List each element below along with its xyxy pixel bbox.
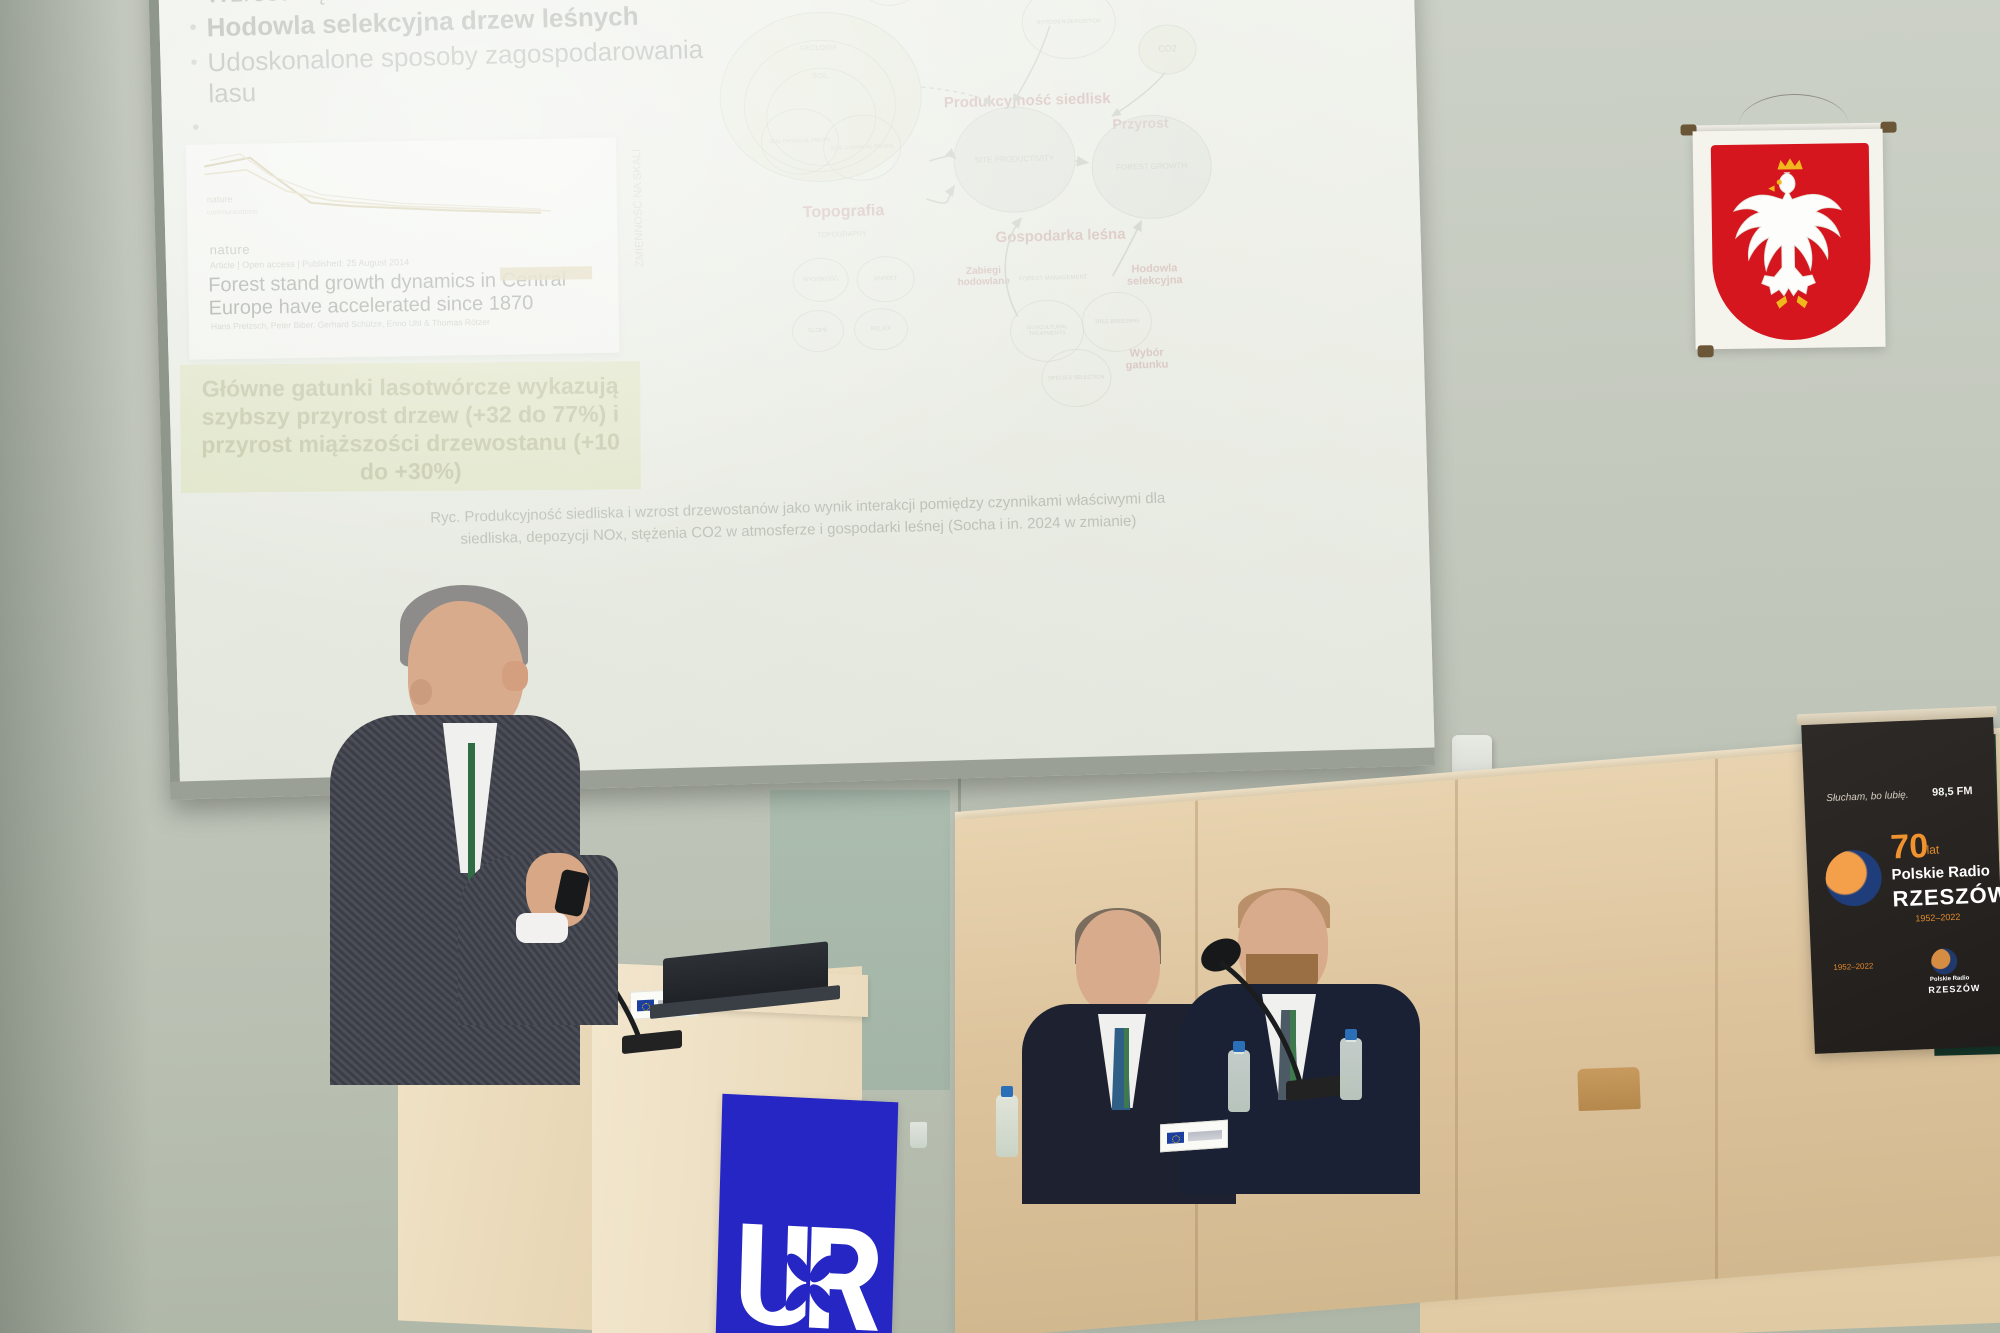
- plate-text-block: [1188, 1130, 1222, 1141]
- banner-years-small: 1952–2022: [1833, 961, 1873, 972]
- water-bottle: [1228, 1050, 1250, 1112]
- banner-anniversary-number: 70: [1890, 827, 1929, 868]
- radio-logo-icon-small: [1931, 948, 1958, 975]
- banner-line1: Polskie Radio: [1891, 862, 1990, 883]
- banner-slogan: Słucham, bo lubię.: [1826, 790, 1909, 804]
- shirt-cuff: [516, 913, 568, 943]
- speaker-at-podium: [330, 575, 660, 1075]
- bullet-dot-icon: •: [192, 113, 200, 143]
- svg-text:communications: communications: [207, 209, 258, 217]
- banner-line2: RZESZÓW: [1892, 882, 2000, 913]
- conference-photo: • …nie okresu wegetacyjnego • Wzrost stę…: [0, 0, 2000, 1333]
- banner-anniversary-suffix: lat: [1926, 842, 1939, 857]
- growth-curve-thumbnail: nature communications: [200, 147, 561, 223]
- banner-line2-small: RZESZÓW: [1928, 983, 1980, 995]
- emblem-banner-cloth: [1693, 129, 1886, 350]
- lanyard: [468, 743, 475, 883]
- lanyard: [1124, 1028, 1129, 1108]
- radio-logo-icon: [1825, 849, 1883, 907]
- diagram-arrows: [547, 0, 1402, 479]
- bullet-dot-icon: •: [190, 47, 199, 110]
- emblem-shield: [1711, 143, 1872, 341]
- paper-meta: Article | Open access | Published: 25 Au…: [210, 257, 409, 270]
- bottle-cap: [1345, 1029, 1357, 1040]
- eu-flag-icon: [1167, 1131, 1184, 1143]
- bottle-cap: [1001, 1086, 1013, 1097]
- wall-shadow: [0, 0, 150, 1333]
- desk-eu-plate: [1160, 1120, 1228, 1153]
- conceptual-diagram: ZMIENNOŚĆ NA SKALI Klimat Temperatura Op…: [547, 0, 1402, 479]
- drinking-glass: [910, 1122, 927, 1148]
- polish-coat-of-arms: [1698, 117, 1891, 350]
- table-panel-seam: [1715, 759, 1718, 1279]
- radio-rzeszow-banner: 70 lat Polskie Radio RZESZÓW 1952–2022 S…: [1801, 716, 2000, 1054]
- emblem-bottom-weight: [1698, 345, 1714, 357]
- nose: [502, 661, 528, 691]
- table-panel-seam: [1455, 780, 1458, 1300]
- ur-monogram-icon: [730, 1218, 881, 1333]
- white-eagle-icon: [1711, 143, 1872, 341]
- ear: [410, 679, 432, 705]
- banner-line1-small: Polskie Radio: [1930, 975, 1970, 983]
- chair: [1577, 1067, 1640, 1111]
- banner-frequency: 98,5 FM: [1932, 785, 1973, 799]
- water-bottle: [996, 1095, 1018, 1157]
- banner-years: 1952–2022: [1915, 912, 1960, 924]
- bullet-dot-icon: •: [188, 0, 196, 10]
- ur-logo: [716, 1094, 899, 1333]
- svg-text:nature: nature: [207, 194, 233, 204]
- emblem-rod-right-cap: [1880, 122, 1896, 133]
- head: [1076, 910, 1160, 1014]
- bottle-cap: [1233, 1041, 1245, 1052]
- slide-figure-caption: Ryc. Produkcyjność siedliska i wzrost dr…: [398, 487, 1199, 552]
- water-bottle: [1340, 1038, 1362, 1100]
- bullet-dot-icon: •: [189, 13, 197, 44]
- paper-journal-name: nature: [210, 242, 251, 258]
